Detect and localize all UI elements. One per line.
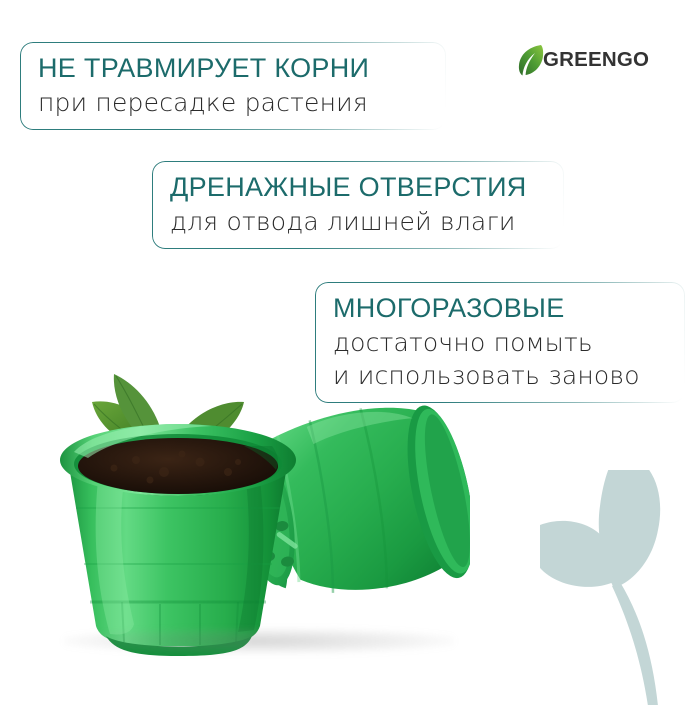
banner-canvas: GREENGO НЕ ТРАВМИРУЕТ КОРНИ при пересадк… <box>0 0 700 700</box>
feature-subline: при пересадке растения <box>38 86 430 119</box>
brand-logo: GREENGO <box>518 44 649 76</box>
front-pot <box>60 424 296 656</box>
product-photo <box>40 340 470 670</box>
feature-block-1: НЕ ТРАВМИРУЕТ КОРНИ при пересадке растен… <box>20 42 446 130</box>
pot-shadow <box>64 628 454 654</box>
sprout-watermark <box>540 470 700 705</box>
pots-illustration <box>40 340 470 670</box>
leaf-icon <box>518 44 544 76</box>
feature-heading: НЕ ТРАВМИРУЕТ КОРНИ <box>38 51 430 86</box>
feature-block-2: ДРЕНАЖНЫЕ ОТВЕРСТИЯ для отвода лишней вл… <box>152 161 564 249</box>
feature-heading: МНОГОРАЗОВЫЕ <box>333 291 669 326</box>
feature-heading: ДРЕНАЖНЫЕ ОТВЕРСТИЯ <box>170 170 548 205</box>
brand-name: GREENGO <box>543 50 649 71</box>
feature-subline: для отвода лишней влаги <box>170 205 548 238</box>
